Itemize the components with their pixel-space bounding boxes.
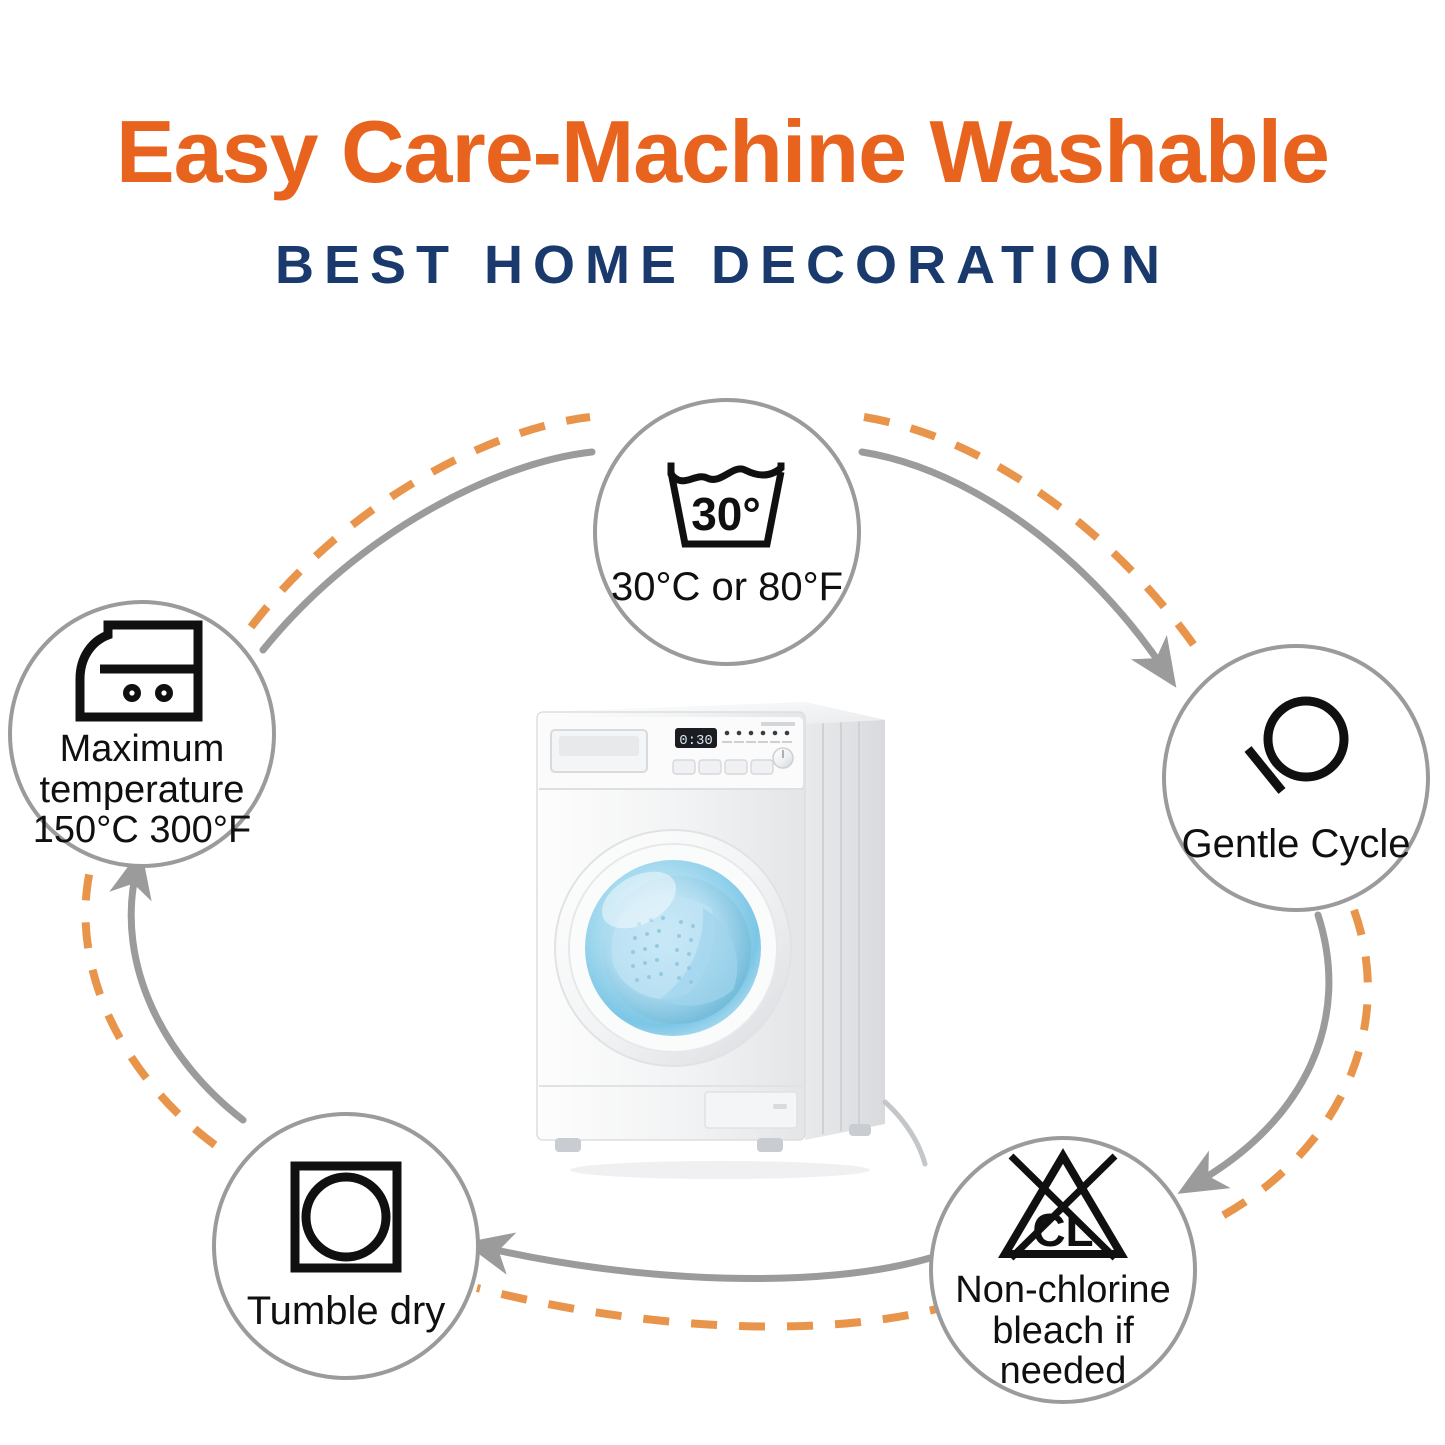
arrow-tumble-to-iron	[131, 872, 243, 1120]
dashed-gentle-to-bleach	[1222, 910, 1368, 1216]
tumble-dry-icon	[289, 1160, 403, 1274]
arrow-iron-to-wash	[263, 452, 592, 650]
dashed-bleach-to-tumble	[477, 1288, 955, 1326]
washing-machine-image: 0:30	[505, 672, 935, 1192]
node-iron-temperature[interactable]: Maximum temperature 150°C 300°F	[8, 600, 276, 868]
node-tumble-label: Tumble dry	[247, 1290, 446, 1333]
node-gentle-label: Gentle Cycle	[1182, 823, 1411, 866]
gentle-cycle-icon	[1234, 691, 1358, 809]
node-non-chlorine-bleach[interactable]: CL Non-chlorine bleach if needed	[929, 1136, 1197, 1404]
foot-left	[555, 1138, 581, 1152]
node-wash-temperature[interactable]: 30° 30°C or 80°F	[593, 398, 861, 666]
node-iron-label: Maximum temperature 150°C 300°F	[33, 729, 251, 851]
power-cord	[885, 1102, 925, 1164]
foot-back	[849, 1124, 871, 1136]
wash-tub-30-icon: 30°	[659, 456, 795, 556]
node-gentle-cycle[interactable]: Gentle Cycle	[1162, 644, 1430, 912]
display-value: 0:30	[679, 733, 713, 749]
care-cycle-diagram: 0:30	[0, 0, 1445, 1445]
arrow-bleach-to-tumble	[487, 1248, 930, 1279]
infographic-page: Easy Care-Machine Washable BEST HOME DEC…	[0, 0, 1445, 1445]
node-bleach-label: Non-chlorine bleach if needed	[955, 1270, 1170, 1392]
wash-tub-temp-text: 30°	[691, 488, 761, 540]
foot-right	[757, 1138, 783, 1152]
dashed-iron-to-wash	[251, 417, 590, 627]
dashed-wash-to-gentle	[864, 417, 1196, 648]
non-chlorine-bleach-icon: CL	[997, 1148, 1129, 1264]
node-wash-label: 30°C or 80°F	[611, 566, 843, 609]
node-tumble-dry[interactable]: Tumble dry	[212, 1112, 480, 1380]
brand-mark	[761, 722, 795, 726]
machine-side-panel	[805, 702, 885, 1140]
iron-two-dots-icon	[70, 617, 214, 725]
service-flap[interactable]	[705, 1092, 797, 1128]
